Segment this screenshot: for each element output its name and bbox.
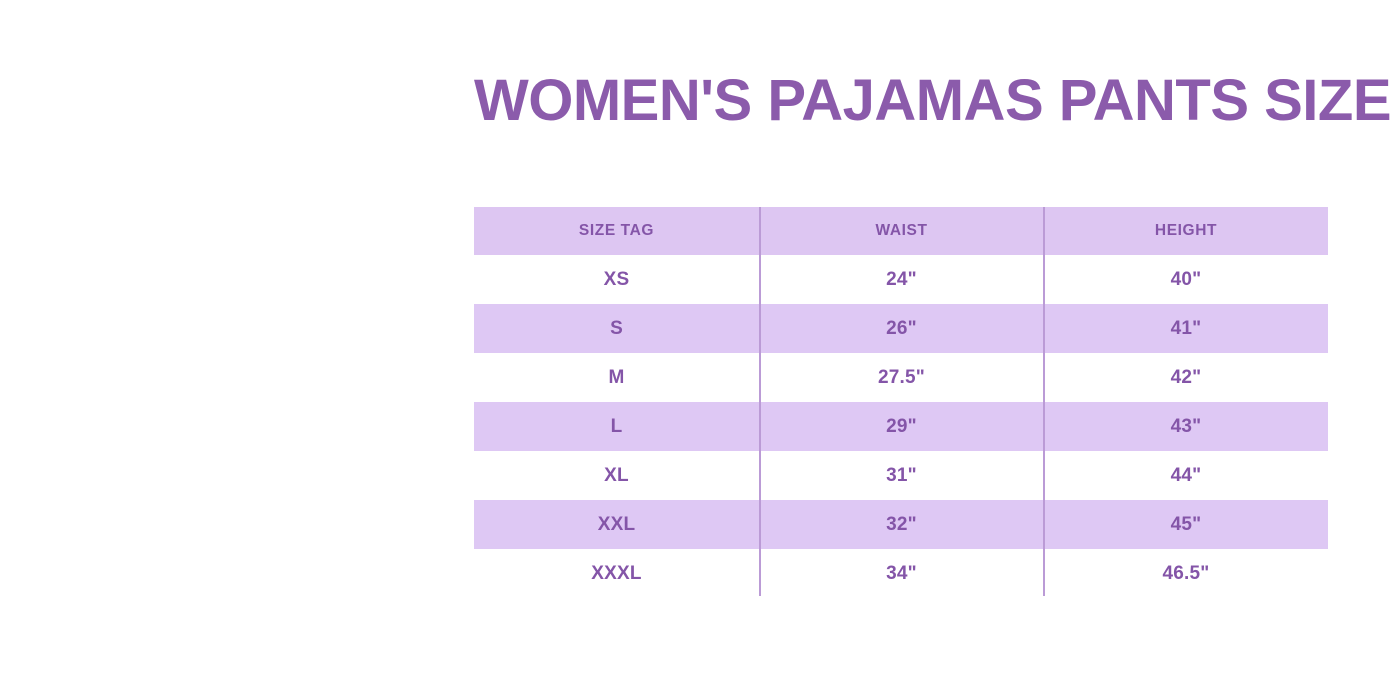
cell-waist: 32" xyxy=(759,500,1044,549)
cell-height: 43" xyxy=(1044,402,1328,451)
table-header: SIZE TAG WAIST HEIGHT xyxy=(474,207,1328,255)
column-header-size-tag: SIZE TAG xyxy=(474,207,759,255)
cell-height: 42" xyxy=(1044,353,1328,402)
size-chart-table: SIZE TAG WAIST HEIGHT XS 24" 40" S 26" 4… xyxy=(474,207,1328,598)
table-row: L 29" 43" xyxy=(474,402,1328,451)
table-row: S 26" 41" xyxy=(474,304,1328,353)
table-row: XS 24" 40" xyxy=(474,255,1328,304)
cell-waist: 26" xyxy=(759,304,1044,353)
cell-size-tag: M xyxy=(474,353,759,402)
cell-height: 45" xyxy=(1044,500,1328,549)
table-row: M 27.5" 42" xyxy=(474,353,1328,402)
cell-size-tag: XXL xyxy=(474,500,759,549)
cell-waist: 31" xyxy=(759,451,1044,500)
cell-height: 46.5" xyxy=(1044,549,1328,598)
cell-waist: 34" xyxy=(759,549,1044,598)
cell-size-tag: XL xyxy=(474,451,759,500)
table-body: XS 24" 40" S 26" 41" M 27.5" 42" L 29" 4… xyxy=(474,255,1328,598)
cell-size-tag: XXXL xyxy=(474,549,759,598)
cell-size-tag: L xyxy=(474,402,759,451)
cell-height: 44" xyxy=(1044,451,1328,500)
column-header-height: HEIGHT xyxy=(1044,207,1328,255)
column-divider-1 xyxy=(759,207,761,596)
page-title: WOMEN'S PAJAMAS PANTS SIZE CHART xyxy=(474,66,1394,136)
cell-size-tag: XS xyxy=(474,255,759,304)
cell-size-tag: S xyxy=(474,304,759,353)
table-row: XXL 32" 45" xyxy=(474,500,1328,549)
table-row: XL 31" 44" xyxy=(474,451,1328,500)
size-chart-page: WOMEN'S PAJAMAS PANTS SIZE CHART SIZE TA… xyxy=(0,0,1400,700)
column-header-waist: WAIST xyxy=(759,207,1044,255)
cell-waist: 24" xyxy=(759,255,1044,304)
table-row: XXXL 34" 46.5" xyxy=(474,549,1328,598)
cell-height: 41" xyxy=(1044,304,1328,353)
cell-waist: 27.5" xyxy=(759,353,1044,402)
column-divider-2 xyxy=(1043,207,1045,596)
cell-height: 40" xyxy=(1044,255,1328,304)
table-header-row: SIZE TAG WAIST HEIGHT xyxy=(474,207,1328,255)
cell-waist: 29" xyxy=(759,402,1044,451)
